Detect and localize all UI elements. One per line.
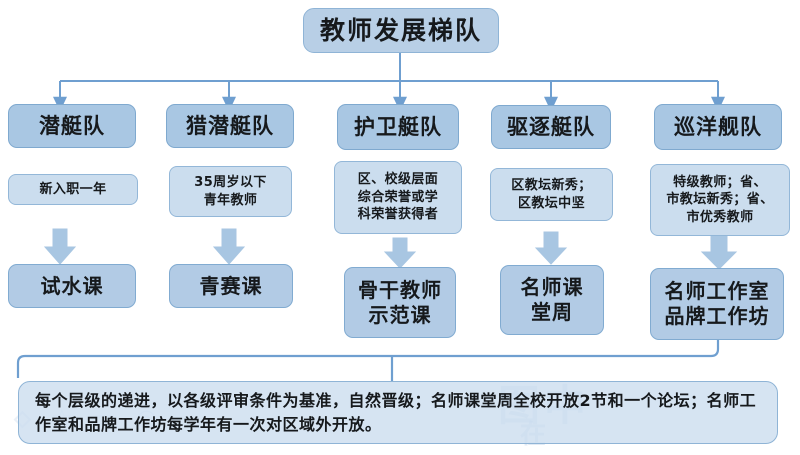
team-label-2: 猎潜艇队 <box>186 114 274 139</box>
criteria-label-5: 特级教师；省、 市教坛新秀；省、 市优秀教师 <box>666 174 773 227</box>
diagram-canvas: 图中 在 ⬦ ☆ ▭ ◎ <box>0 0 800 455</box>
team-node-1[interactable]: 潜艇队 <box>8 104 136 148</box>
diagram-title-box: 教师发展梯队 <box>303 8 499 53</box>
summary-note-box: 每个层级的递进，以各级评审条件为基准，自然晋级；名师课堂周全校开放2节和一个论坛… <box>18 381 778 444</box>
outcome-node-4[interactable]: 名师课 堂周 <box>500 265 604 335</box>
outcome-node-1[interactable]: 试水课 <box>8 264 136 308</box>
criteria-label-4: 区教坛新秀； 区教坛中坚 <box>511 177 591 212</box>
criteria-node-2[interactable]: 35周岁以下 青年教师 <box>169 166 292 217</box>
team-node-3[interactable]: 护卫艇队 <box>337 104 459 150</box>
criteria-label-1: 新入职一年 <box>39 181 106 199</box>
team-label-3: 护卫艇队 <box>354 115 442 140</box>
outcome-node-5[interactable]: 名师工作室 品牌工作坊 <box>650 268 784 340</box>
criteria-node-1[interactable]: 新入职一年 <box>8 174 138 205</box>
block-arrow-col-1 <box>45 229 75 264</box>
outcome-label-1: 试水课 <box>41 274 104 299</box>
team-node-4[interactable]: 驱逐艇队 <box>491 105 611 149</box>
connector-outcomes-to-note <box>18 340 718 378</box>
page-title: 教师发展梯队 <box>320 16 482 46</box>
team-node-5[interactable]: 巡洋舰队 <box>654 104 782 150</box>
block-arrow-col-4 <box>536 232 566 264</box>
block-arrow-group <box>45 229 736 269</box>
summary-note-text: 每个层级的递进，以各级评审条件为基准，自然晋级；名师课堂周全校开放2节和一个论坛… <box>35 391 756 434</box>
criteria-label-3: 区、校级层面 综合荣誉或学 科荣誉获得者 <box>358 171 438 224</box>
criteria-label-2: 35周岁以下 青年教师 <box>194 174 267 209</box>
outcome-label-3: 骨干教师 示范课 <box>358 278 442 328</box>
team-node-2[interactable]: 猎潜艇队 <box>166 104 294 148</box>
team-label-4: 驱逐艇队 <box>507 115 595 140</box>
criteria-node-5[interactable]: 特级教师；省、 市教坛新秀；省、 市优秀教师 <box>650 164 790 236</box>
outcome-node-2[interactable]: 青赛课 <box>169 264 293 308</box>
block-arrow-col-2 <box>214 229 244 264</box>
criteria-node-3[interactable]: 区、校级层面 综合荣誉或学 科荣誉获得者 <box>334 161 462 234</box>
team-label-5: 巡洋舰队 <box>674 115 762 140</box>
team-label-1: 潜艇队 <box>39 114 105 139</box>
outcome-label-4: 名师课 堂周 <box>521 275 584 325</box>
outcome-label-2: 青赛课 <box>200 274 263 299</box>
block-arrow-col-5 <box>702 236 736 269</box>
outcome-node-3[interactable]: 骨干教师 示范课 <box>344 267 456 338</box>
block-arrow-col-3 <box>385 238 415 268</box>
outcome-label-5: 名师工作室 品牌工作坊 <box>665 279 770 329</box>
criteria-node-4[interactable]: 区教坛新秀； 区教坛中坚 <box>490 168 613 221</box>
